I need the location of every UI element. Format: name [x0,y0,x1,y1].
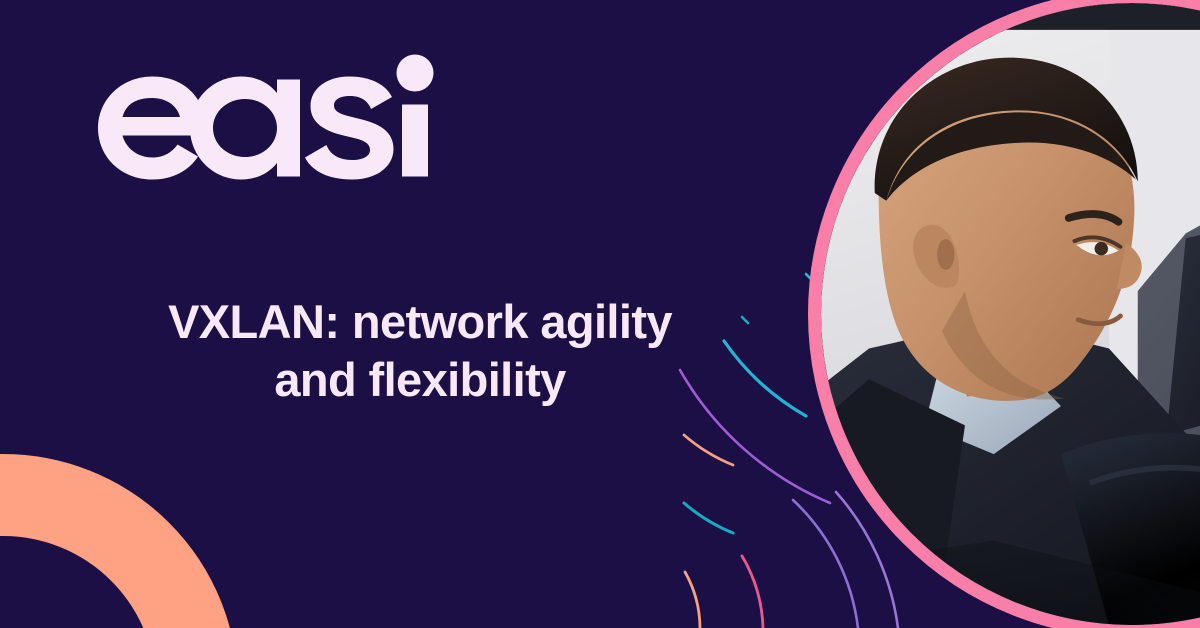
photo-circle-frame [808,0,1200,628]
easi-logo[interactable]: easi [95,52,435,182]
page-title: VXLAN: network agility and flexibility [40,293,800,409]
headline-line-2: and flexibility [40,351,800,409]
social-share-banner: easi VXLAN: network agility and flexibil… [0,0,1200,628]
photo-image [821,3,1200,625]
coral-ring-decoration [0,454,238,628]
headline-line-1: VXLAN: network agility [168,295,672,348]
